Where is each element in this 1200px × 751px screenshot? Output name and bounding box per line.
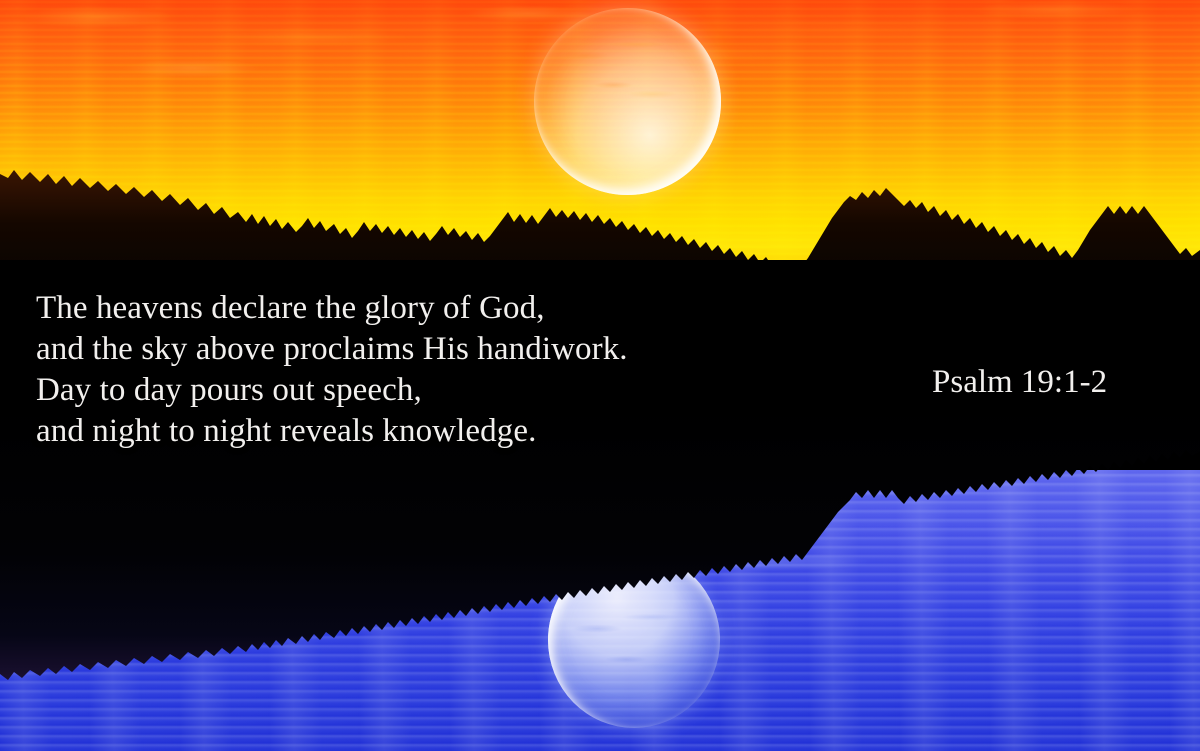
verse-line-3: Day to day pours out speech,	[36, 370, 856, 411]
verse-text: The heavens declare the glory of God, an…	[36, 288, 856, 452]
scripture-image: The heavens declare the glory of God, an…	[0, 0, 1200, 751]
verse-line-4: and night to night reveals knowledge.	[36, 411, 856, 452]
moon-reflection-icon	[548, 552, 720, 728]
verse-line-2: and the sky above proclaims His handiwor…	[36, 329, 856, 370]
verse-reference: Psalm 19:1-2	[932, 362, 1107, 403]
verse-line-1: The heavens declare the glory of God,	[36, 288, 856, 329]
crescent-moon-icon	[534, 8, 721, 195]
